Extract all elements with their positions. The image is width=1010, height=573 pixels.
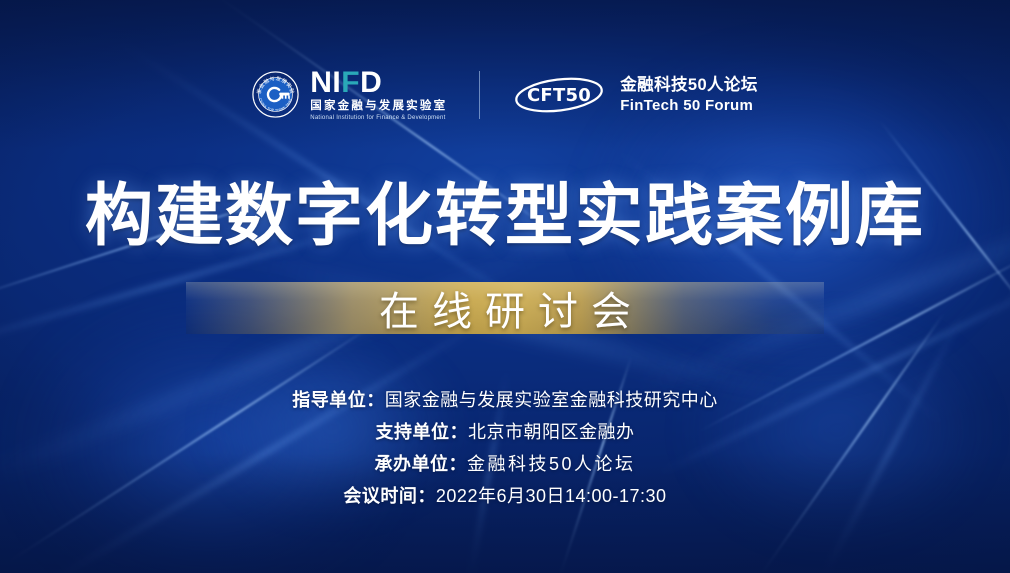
info-value: 金融科技50人论坛 <box>467 454 636 474</box>
nifd-wordmark-ni: NI <box>310 68 341 98</box>
nifd-logo: 国家金融与发展实验室 CHINA TOP THINK TANK NIFD 国家金… <box>252 68 447 121</box>
info-line: 会议时间：2022年6月30日14:00-17:30 <box>0 487 1010 505</box>
event-info-block: 指导单位：国家金融与发展实验室金融科技研究中心 支持单位：北京市朝阳区金融办 承… <box>0 391 1010 505</box>
page-subtitle: 在线研讨会 <box>0 281 1010 335</box>
nifd-wordmark: NIFD <box>310 68 447 98</box>
cft50-logo: CFT50 金融科技50人论坛 FinTech 50 Forum <box>512 74 757 116</box>
nifd-wordmark-d: D <box>360 68 382 98</box>
nifd-wordmark-f: F <box>341 68 360 98</box>
nifd-text-block: NIFD 国家金融与发展实验室 National Institution for… <box>310 68 447 121</box>
info-value: 国家金融与发展实验室金融科技研究中心 <box>385 390 718 410</box>
info-value: 北京市朝阳区金融办 <box>468 422 635 442</box>
svg-text:CFT50: CFT50 <box>527 85 591 106</box>
cft50-text-block: 金融科技50人论坛 FinTech 50 Forum <box>620 76 757 114</box>
logo-divider <box>479 71 480 119</box>
nifd-circular-seal-icon: 国家金融与发展实验室 CHINA TOP THINK TANK <box>252 71 299 118</box>
cft50-name-en: FinTech 50 Forum <box>620 97 757 114</box>
info-value: 2022年6月30日14:00-17:30 <box>436 486 667 506</box>
nifd-name-en: National Institution for Finance & Devel… <box>310 115 447 122</box>
info-label: 会议时间： <box>343 486 436 506</box>
logo-bar: 国家金融与发展实验室 CHINA TOP THINK TANK NIFD 国家金… <box>0 62 1010 128</box>
info-line: 支持单位：北京市朝阳区金融办 <box>0 423 1010 441</box>
nifd-name-cn: 国家金融与发展实验室 <box>310 100 447 113</box>
cft50-ellipse-icon: CFT50 <box>512 74 606 116</box>
info-label: 支持单位： <box>376 422 469 442</box>
info-label: 指导单位： <box>292 390 385 410</box>
webinar-poster: 国家金融与发展实验室 CHINA TOP THINK TANK NIFD 国家金… <box>0 0 1010 573</box>
cft50-name-cn: 金融科技50人论坛 <box>620 76 757 95</box>
info-line: 指导单位：国家金融与发展实验室金融科技研究中心 <box>0 391 1010 409</box>
info-line: 承办单位：金融科技50人论坛 <box>0 455 1010 473</box>
info-label: 承办单位： <box>374 454 467 474</box>
page-title: 构建数字化转型实践案例库 <box>0 180 1010 253</box>
